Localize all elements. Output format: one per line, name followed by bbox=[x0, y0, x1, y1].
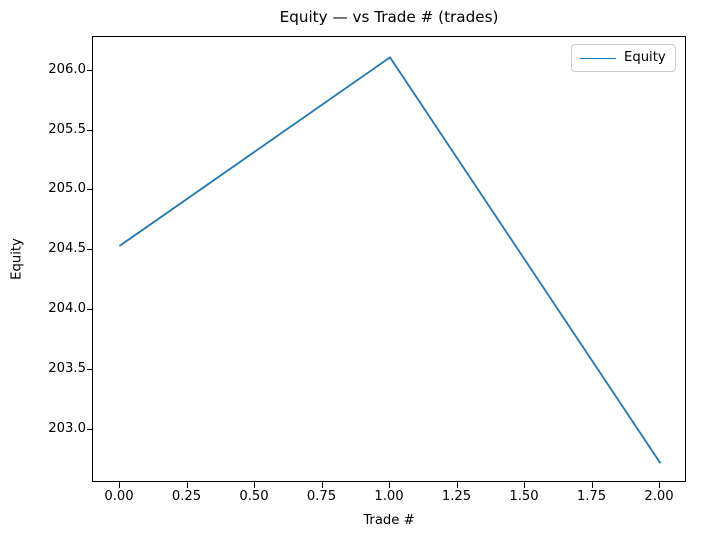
x-tick-mark bbox=[659, 482, 660, 488]
x-tick-mark bbox=[592, 482, 593, 488]
x-tick-mark bbox=[187, 482, 188, 488]
chart-title: Equity — vs Trade # (trades) bbox=[92, 8, 686, 26]
y-tick-label: 204.5 bbox=[24, 242, 86, 256]
x-tick-label: 0.00 bbox=[84, 489, 154, 504]
line-series-equity bbox=[120, 57, 660, 462]
legend-line-swatch-equity bbox=[580, 58, 616, 59]
x-tick-label: 1.00 bbox=[354, 489, 424, 504]
x-tick-mark bbox=[254, 482, 255, 488]
matplotlib-figure: Equity — vs Trade # (trades) Equity 203.… bbox=[0, 0, 703, 546]
legend: Equity bbox=[571, 44, 676, 72]
x-tick-mark bbox=[457, 482, 458, 488]
series-canvas bbox=[93, 37, 687, 483]
plot-area bbox=[92, 36, 686, 482]
y-tick-label: 205.0 bbox=[24, 182, 86, 196]
x-tick-label: 1.50 bbox=[489, 489, 559, 504]
y-axis-tick-labels: 203.0203.5204.0204.5205.0205.5206.0 bbox=[20, 0, 86, 546]
x-axis-label: Trade # bbox=[92, 513, 686, 528]
legend-label-equity: Equity bbox=[624, 50, 666, 66]
y-tick-label: 203.0 bbox=[24, 422, 86, 436]
x-tick-label: 1.25 bbox=[422, 489, 492, 504]
y-tick-label: 205.5 bbox=[24, 123, 86, 137]
x-tick-mark bbox=[322, 482, 323, 488]
y-tick-label: 206.0 bbox=[24, 63, 86, 77]
y-tick-label: 204.0 bbox=[24, 302, 86, 316]
x-tick-label: 0.50 bbox=[219, 489, 289, 504]
y-tick-label: 203.5 bbox=[24, 362, 86, 376]
x-tick-mark bbox=[119, 482, 120, 488]
x-tick-label: 0.75 bbox=[287, 489, 357, 504]
x-tick-mark bbox=[389, 482, 390, 488]
x-tick-mark bbox=[524, 482, 525, 488]
x-tick-label: 2.00 bbox=[624, 489, 694, 504]
x-tick-label: 1.75 bbox=[557, 489, 627, 504]
x-tick-label: 0.25 bbox=[152, 489, 222, 504]
